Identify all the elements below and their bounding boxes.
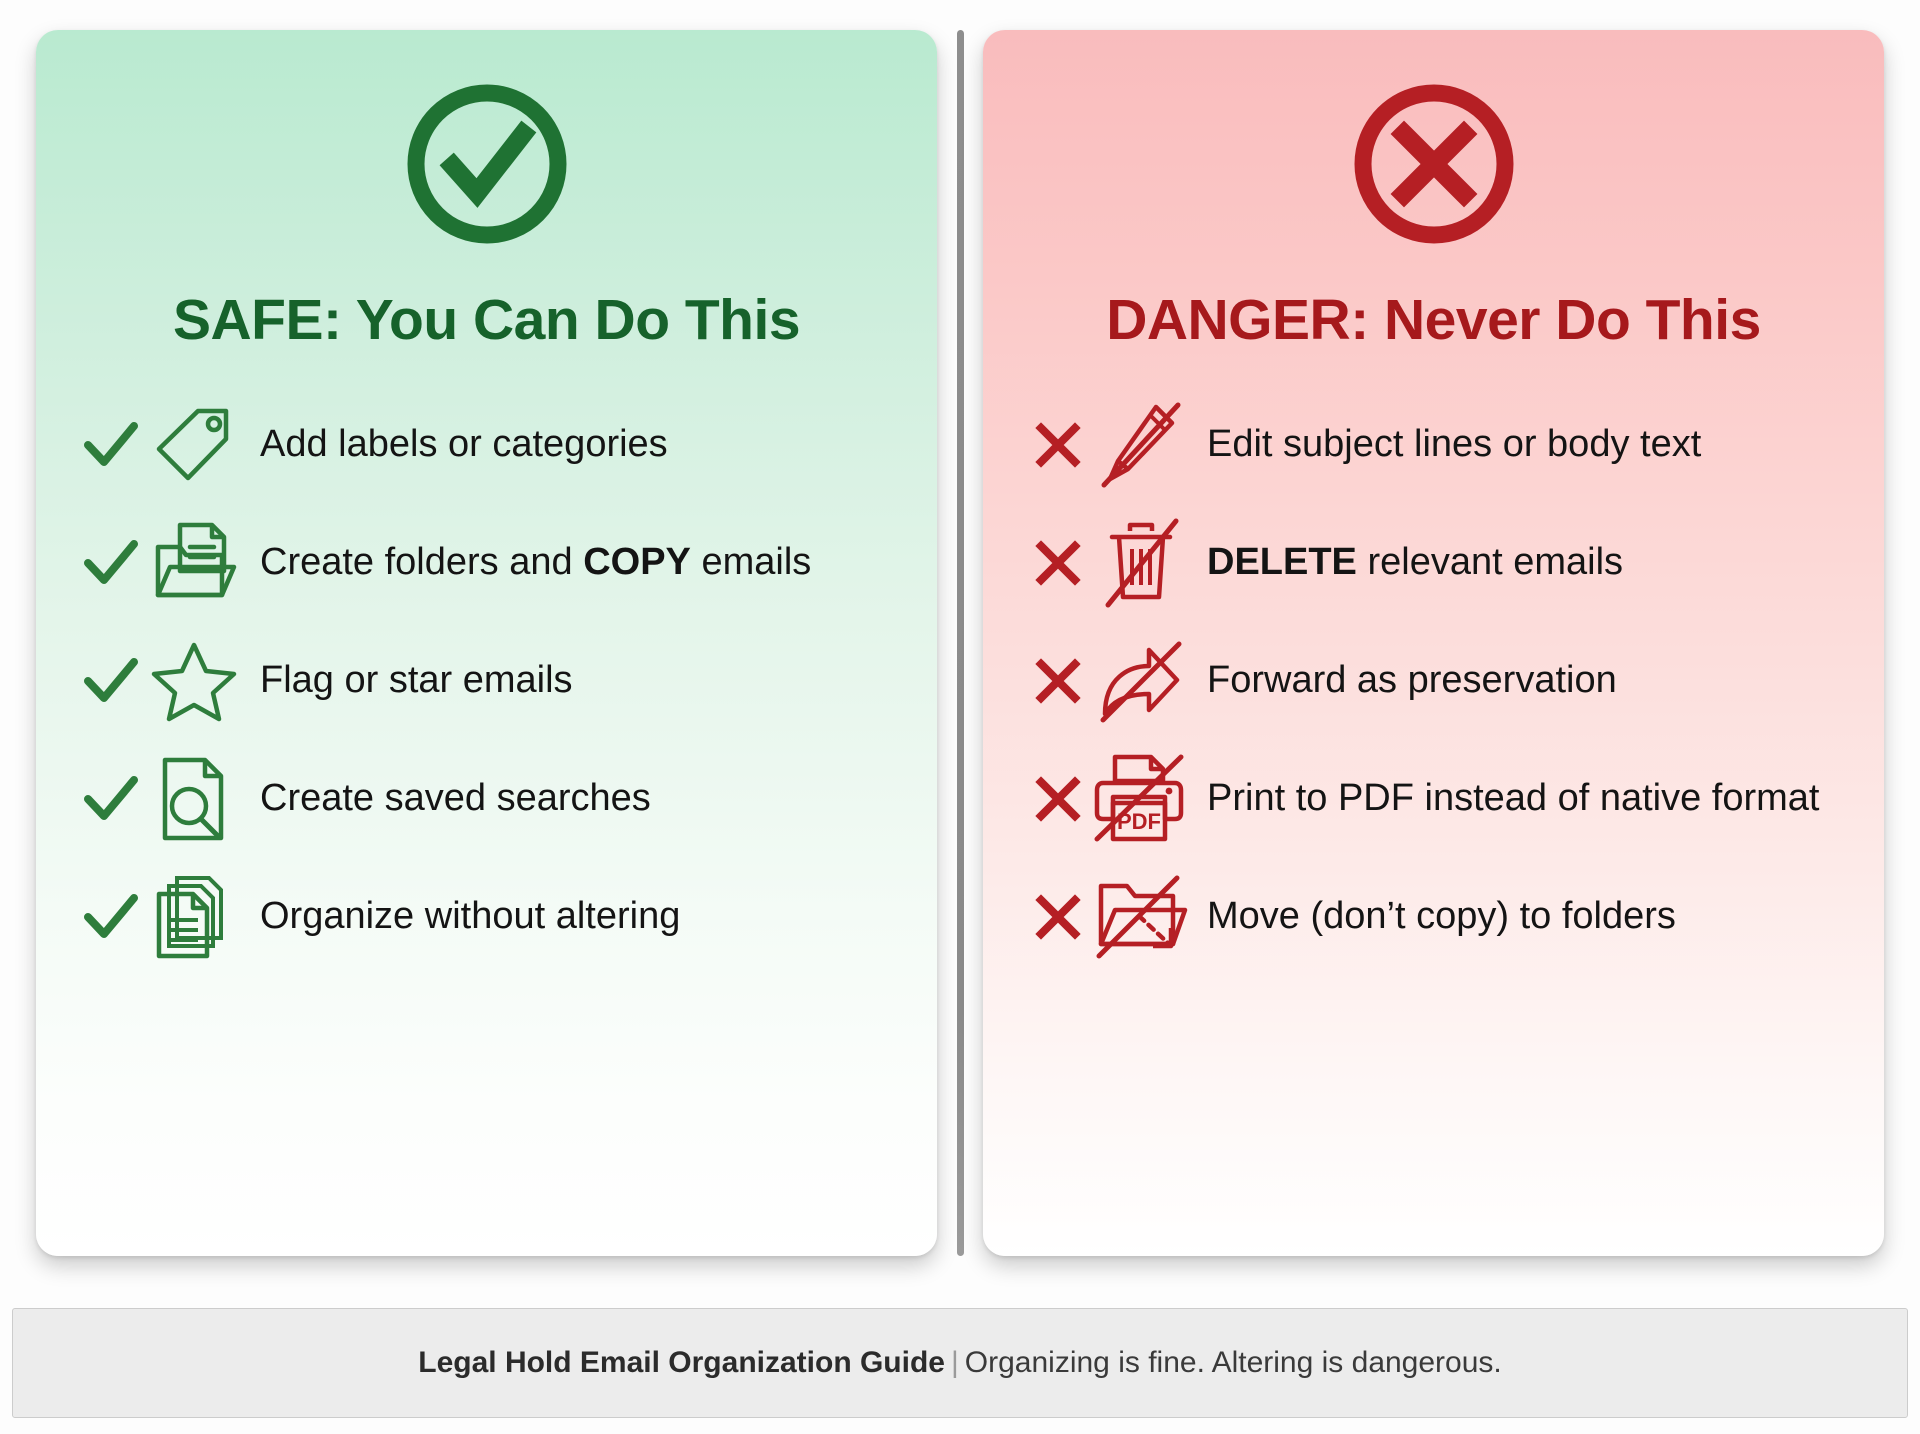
safe-card: SAFE: You Can Do This: [36, 30, 937, 1256]
x-mark-icon: [1027, 420, 1089, 470]
printer-pdf-slash-icon: PDF: [1089, 753, 1193, 845]
check-mark-icon: [80, 540, 142, 586]
list-item: Forward as preservation: [1027, 633, 1844, 729]
pencil-slash-icon: [1089, 399, 1193, 491]
x-circle-icon: [1023, 76, 1844, 257]
list-item: Edit subject lines or body text: [1027, 397, 1844, 493]
folder-move-slash-icon: [1089, 872, 1193, 962]
list-item: Add labels or categories: [80, 397, 897, 493]
folder-document-icon: [142, 519, 246, 607]
trash-slash-icon: [1089, 517, 1193, 609]
list-item: Flag or star emails: [80, 633, 897, 729]
list-item: PDF Print to PDF instead of native forma…: [1027, 751, 1844, 847]
danger-list: Edit subject lines or body text: [1023, 397, 1844, 965]
check-mark-icon: [80, 422, 142, 468]
infographic-board: SAFE: You Can Do This: [0, 0, 1920, 1434]
footer-bar: Legal Hold Email Organization Guide|Orga…: [12, 1308, 1908, 1418]
list-item-label: Edit subject lines or body text: [1193, 421, 1844, 468]
tag-icon: [142, 403, 246, 487]
footer-title: Legal Hold Email Organization Guide: [418, 1346, 945, 1379]
check-mark-icon: [80, 658, 142, 704]
check-mark-icon: [80, 894, 142, 940]
check-circle-icon: [76, 76, 897, 257]
list-item-label: DELETE relevant emails: [1193, 539, 1844, 586]
danger-card-title: DANGER: Never Do This: [1023, 291, 1844, 351]
forward-slash-icon: [1089, 638, 1193, 724]
panel-divider: [957, 30, 964, 1256]
danger-card-header: DANGER: Never Do This: [1023, 76, 1844, 351]
footer-text: Legal Hold Email Organization Guide|Orga…: [418, 1346, 1502, 1380]
list-item: DELETE relevant emails: [1027, 515, 1844, 611]
star-icon: [142, 639, 246, 723]
list-item-label: Organize without altering: [246, 893, 897, 940]
list-item-label: Move (don’t copy) to folders: [1193, 893, 1844, 940]
stacked-documents-icon: [142, 872, 246, 962]
list-item-label: Flag or star emails: [246, 657, 897, 704]
list-item-label: Create saved searches: [246, 775, 897, 822]
danger-card: DANGER: Never Do This: [983, 30, 1884, 1256]
x-mark-icon: [1027, 892, 1089, 942]
x-mark-icon: [1027, 538, 1089, 588]
safe-card-title: SAFE: You Can Do This: [76, 291, 897, 351]
panels-container: SAFE: You Can Do This: [0, 0, 1920, 1308]
x-mark-icon: [1027, 774, 1089, 824]
check-mark-icon: [80, 776, 142, 822]
list-item-label: Print to PDF instead of native format: [1193, 775, 1844, 822]
list-item: Move (don’t copy) to folders: [1027, 869, 1844, 965]
safe-card-header: SAFE: You Can Do This: [76, 76, 897, 351]
list-item-label: Forward as preservation: [1193, 657, 1844, 704]
list-item: Create folders and COPY emails: [80, 515, 897, 611]
list-item-label: Create folders and COPY emails: [246, 539, 897, 586]
list-item: Organize without altering: [80, 869, 897, 965]
list-item: Create saved searches: [80, 751, 897, 847]
list-item-label: Add labels or categories: [246, 421, 897, 468]
document-search-icon: [142, 754, 246, 844]
footer-tagline: Organizing is fine. Altering is dangerou…: [965, 1346, 1502, 1379]
footer-separator: |: [945, 1346, 965, 1379]
safe-list: Add labels or categories: [76, 397, 897, 965]
x-mark-icon: [1027, 656, 1089, 706]
